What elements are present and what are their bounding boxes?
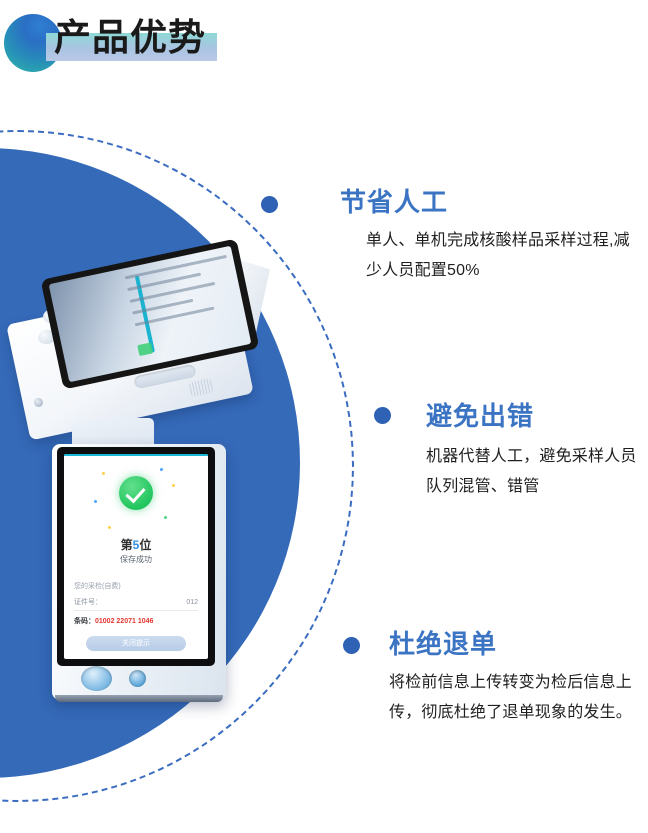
feature-heading-1: 节省人工: [340, 186, 640, 218]
connector-dot-3: [343, 637, 360, 654]
device-photo-bottom: 第5位 保存成功 您的采检(自费) 证件号： 012 条码：01002 2207…: [52, 418, 226, 708]
device-bottom-screen: 第5位 保存成功 您的采检(自费) 证件号： 012 条码：01002 2207…: [64, 454, 208, 659]
confetti-dot: [164, 516, 167, 519]
confetti-dot: [172, 484, 175, 487]
success-check-icon: [119, 476, 153, 510]
device-photo-top: [12, 252, 274, 434]
device-top-screen-rows: [124, 255, 243, 355]
feature-block-1: 节省人工 单人、单机完成核酸样品采样过程,减少人员配置50%: [340, 186, 640, 286]
feature-heading-2: 避免出错: [426, 400, 648, 432]
feature-block-2: 避免出错 机器代替人工，避免采样人员队列混管、错管: [426, 400, 648, 502]
page-header: 产品优势: [0, 0, 648, 100]
product-advantages-page: 产品优势: [0, 0, 648, 833]
close-dialog-button[interactable]: 关闭提示: [86, 636, 186, 651]
rank-prefix: 第: [121, 538, 133, 552]
feature-body-1: 单人、单机完成核酸样品采样过程,减少人员配置50%: [340, 226, 640, 286]
queue-rank-text: 第5位: [64, 538, 208, 552]
page-title: 产品优势: [54, 16, 206, 60]
confetti-dot: [108, 526, 111, 529]
feature-heading-3: 杜绝退单: [389, 628, 648, 660]
device-bottom-bezel: 第5位 保存成功 您的采检(自费) 证件号： 012 条码：01002 2207…: [57, 447, 215, 666]
screen-field-label-1: 您的采检(自费): [74, 582, 121, 591]
barcode-value: 01002 22071 1046: [95, 618, 153, 625]
feature-body-3: 将检前信息上传转变为检后信息上传，彻底杜绝了退单现象的发生。: [389, 668, 648, 728]
barcode-label: 条码：: [74, 618, 95, 625]
barcode-row: 条码：01002 22071 1046: [74, 617, 153, 626]
connector-dot-1: [261, 196, 278, 213]
device-bottom-port-left-icon: [81, 666, 112, 691]
connector-dot-2: [374, 407, 391, 424]
save-status-text: 保存成功: [64, 555, 208, 565]
confetti-dot: [160, 468, 163, 471]
screen-field-row-2: 证件号： 012: [74, 598, 198, 611]
feature-block-3: 杜绝退单 将检前信息上传转变为检后信息上传，彻底杜绝了退单现象的发生。: [389, 628, 648, 728]
confetti-dot: [102, 472, 105, 475]
confetti-dot: [94, 500, 97, 503]
screen-field-value-2: 012: [186, 598, 198, 607]
rank-suffix: 位: [139, 538, 151, 552]
device-bottom-base: [55, 695, 223, 702]
device-top-screen-badge: [138, 342, 154, 356]
device-bottom-port-right-icon: [129, 670, 146, 687]
screen-field-label-2: 证件号：: [74, 598, 102, 607]
screen-top-accent-line: [64, 454, 208, 456]
feature-body-2: 机器代替人工，避免采样人员队列混管、错管: [426, 442, 648, 502]
